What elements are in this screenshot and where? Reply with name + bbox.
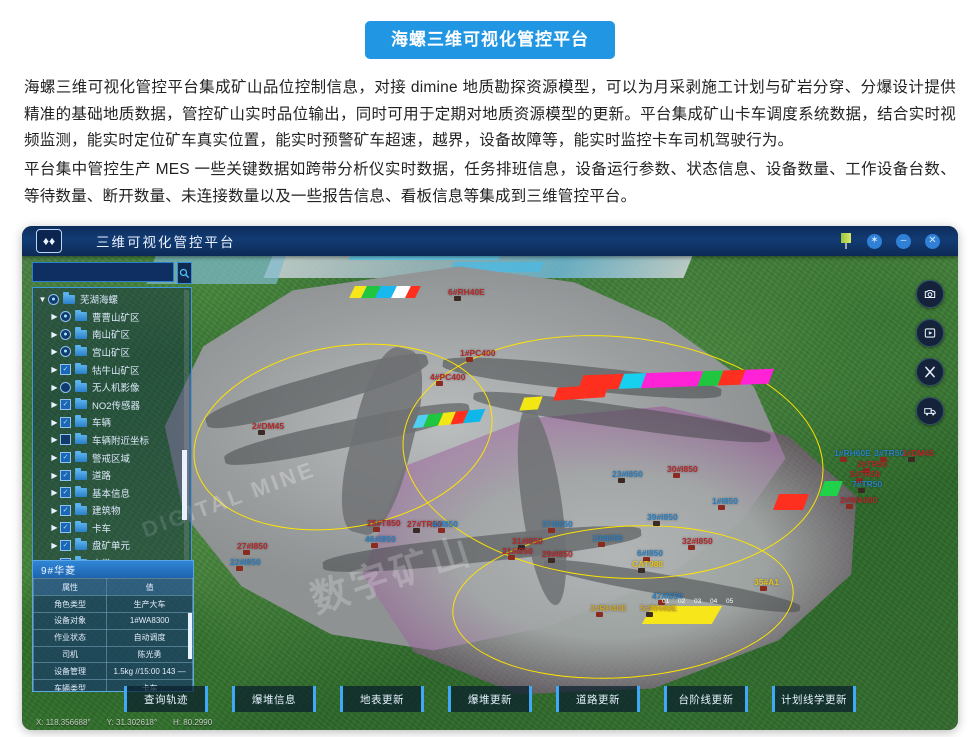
tree-node[interactable]: ▶●宫山矿区 xyxy=(35,343,185,361)
layer-checkbox[interactable]: ✓ xyxy=(60,364,71,375)
map-marker-label[interactable]: 1#I850 xyxy=(712,496,738,506)
map-vehicle-marker[interactable] xyxy=(548,558,555,563)
map-marker-label[interactable]: 46#I850 xyxy=(365,534,396,544)
tree-node-label: 宫山矿区 xyxy=(92,345,130,359)
layer-checkbox[interactable]: ✓ xyxy=(60,540,71,551)
tree-node-label: 车辆 xyxy=(92,415,111,429)
property-value: 1#WA8300 xyxy=(107,612,193,629)
close-icon[interactable]: ✕ xyxy=(925,234,940,249)
map-vehicle-marker[interactable] xyxy=(548,528,555,533)
folder-icon xyxy=(75,506,87,515)
tree-node[interactable]: ▶✓车辆 xyxy=(35,414,185,432)
layer-checkbox[interactable]: ● xyxy=(60,311,71,322)
status-item: X: 118.356688° xyxy=(36,718,91,727)
map-vehicle-marker[interactable] xyxy=(638,568,645,573)
chevron-right-icon[interactable]: ▶ xyxy=(49,453,60,462)
property-key: 角色类型 xyxy=(34,596,107,613)
folder-icon xyxy=(75,330,87,339)
chevron-right-icon[interactable]: ▶ xyxy=(49,506,60,515)
action-button-label: 计划线学更新 xyxy=(781,692,847,707)
status-item: Y: 31.302618° xyxy=(107,718,157,727)
chevron-down-icon[interactable]: ▼ xyxy=(37,295,48,304)
property-value: 1.5kg //15:00 143 — xyxy=(107,663,193,680)
tree-node[interactable]: ▶✓建筑物 xyxy=(35,502,185,520)
action-button-label: 爆堆更新 xyxy=(468,692,512,707)
map-marker-label[interactable]: 19#I850 xyxy=(592,533,623,543)
folder-icon xyxy=(75,347,87,356)
chevron-right-icon[interactable]: ▶ xyxy=(49,365,60,374)
layer-checkbox[interactable]: ✓ xyxy=(60,487,71,498)
page-title-badge: 海螺三维可视化管控平台 xyxy=(365,21,615,59)
map-marker-label[interactable]: 37#I850 xyxy=(542,519,573,529)
property-column-header: 值 xyxy=(107,579,193,596)
map-marker-label[interactable]: 27#I850 xyxy=(237,541,268,551)
truck-icon[interactable] xyxy=(916,397,944,425)
tree-node[interactable]: ▶●南山矿区 xyxy=(35,326,185,344)
bottom-action-bar: 查询轨迹爆堆信息地表更新爆堆更新道路更新台阶线更新计划线学更新 xyxy=(22,686,958,712)
tree-node[interactable]: ▶✓道路 xyxy=(35,466,185,484)
folder-icon xyxy=(75,365,87,374)
bench-tick-label: 03 xyxy=(694,598,701,605)
action-button-label: 爆堆信息 xyxy=(252,692,296,707)
layer-checkbox[interactable]: ✓ xyxy=(60,505,71,516)
layer-checkbox[interactable]: ● xyxy=(60,346,71,357)
folder-icon xyxy=(75,488,87,497)
layer-checkbox[interactable]: ✓ xyxy=(60,399,71,410)
tree-node[interactable]: ▶✓警戒区域 xyxy=(35,449,185,467)
camera-icon[interactable] xyxy=(916,280,944,308)
property-panel: 9#华菱 属性值角色类型生产大车设备对象1#WA8300作业状态自动调度司机陈光… xyxy=(32,560,194,692)
action-button-label: 道路更新 xyxy=(576,692,620,707)
layer-checkbox[interactable]: ✓ xyxy=(60,470,71,481)
tree-node[interactable]: ▶车辆附近坐标 xyxy=(35,431,185,449)
layer-checkbox[interactable]: ✓ xyxy=(60,522,71,533)
property-row: 设备对象1#WA8300 xyxy=(34,612,193,629)
property-column-header: 属性 xyxy=(34,579,107,596)
folder-icon xyxy=(75,400,87,409)
tree-node[interactable]: ▶✓基本信息 xyxy=(35,484,185,502)
property-value: 陈光勇 xyxy=(107,646,193,663)
map-vehicle-marker[interactable] xyxy=(371,543,378,548)
map-vehicle-marker[interactable] xyxy=(840,457,847,462)
tree-node-label: 建筑物 xyxy=(92,503,121,517)
map-vehicle-marker[interactable] xyxy=(688,545,695,550)
blast-pile-info-button[interactable]: 爆堆信息 xyxy=(232,686,316,712)
settings-icon[interactable]: ✶ xyxy=(867,234,882,249)
plan-line-update-button[interactable]: 计划线学更新 xyxy=(772,686,856,712)
property-row: 设备管理1.5kg //15:00 143 — xyxy=(34,663,193,680)
ore-block-row-8 xyxy=(349,286,421,298)
layer-tree[interactable]: ▼●芜湖海螺▶●曹曹山矿区▶●南山矿区▶●宫山矿区▶✓牯牛山矿区▶无人机影像▶✓… xyxy=(32,287,192,577)
map-vehicle-marker[interactable] xyxy=(436,381,443,386)
tree-node[interactable]: ▶✓牯牛山矿区 xyxy=(35,361,185,379)
tree-node-label: 曹曹山矿区 xyxy=(92,310,140,324)
tree-node-label: 牯牛山矿区 xyxy=(92,363,140,377)
map-vehicle-marker[interactable] xyxy=(258,430,265,435)
folder-icon xyxy=(75,312,87,321)
map-vehicle-marker[interactable] xyxy=(653,521,660,526)
map-marker-label[interactable]: 7#TR50 xyxy=(852,479,882,489)
tree-node-label: 盘矿单元 xyxy=(92,538,130,552)
map-vehicle-marker[interactable] xyxy=(508,555,515,560)
property-header-row: 属性值 xyxy=(34,579,193,596)
tree-node[interactable]: ▶✓NO2传感器 xyxy=(35,396,185,414)
tree-node[interactable]: ▶无人机影像 xyxy=(35,378,185,396)
tree-node[interactable]: ▼●芜湖海螺 xyxy=(35,290,185,308)
chevron-right-icon[interactable]: ▶ xyxy=(49,488,60,497)
surface-update-button[interactable]: 地表更新 xyxy=(340,686,424,712)
map-marker-label[interactable]: 6#I850 xyxy=(637,548,663,558)
chevron-right-icon[interactable]: ▶ xyxy=(49,400,60,409)
chevron-right-icon[interactable]: ▶ xyxy=(49,471,60,480)
ore-block-row-5 xyxy=(773,494,809,510)
map-tool-buttons xyxy=(916,280,944,425)
layer-checkbox[interactable]: ✓ xyxy=(60,452,71,463)
property-value: 自动调度 xyxy=(107,629,193,646)
app-logo-icon: ♦♦ xyxy=(36,229,62,253)
chevron-right-icon[interactable]: ▶ xyxy=(49,523,60,532)
map-marker-label[interactable]: 32#I850 xyxy=(682,536,713,546)
property-row: 司机陈光勇 xyxy=(34,646,193,663)
bench-line-update-button[interactable]: 台阶线更新 xyxy=(664,686,748,712)
map-vehicle-marker[interactable] xyxy=(466,357,473,362)
map-marker-label[interactable]: 3#TR50 xyxy=(874,448,904,458)
bench-tick-label: 01 xyxy=(662,598,669,605)
chevron-right-icon[interactable]: ▶ xyxy=(49,435,60,444)
map-vehicle-marker[interactable] xyxy=(454,296,461,301)
chevron-right-icon[interactable]: ▶ xyxy=(49,312,60,321)
tree-node-label: 芜湖海螺 xyxy=(80,292,118,306)
intro-paragraph-1: 海螺三维可视化管控平台集成矿山品位控制信息，对接 dimine 地质勘探资源模型… xyxy=(24,75,956,155)
map-vehicle-marker[interactable] xyxy=(646,612,653,617)
map-vehicle-marker[interactable] xyxy=(760,586,767,591)
map-vehicle-marker[interactable] xyxy=(908,457,915,462)
tree-node-label: 无人机影像 xyxy=(92,380,140,394)
bench-tick-label: 05 xyxy=(726,598,733,605)
chevron-right-icon[interactable]: ▶ xyxy=(49,383,60,392)
property-key: 设备管理 xyxy=(34,663,107,680)
tree-scrollbar-track[interactable] xyxy=(184,290,189,574)
map-marker-label[interactable]: 1#DM45 xyxy=(902,448,934,458)
map-vehicle-marker[interactable] xyxy=(373,527,380,532)
window-controls: ✶ – ✕ xyxy=(839,233,940,249)
folder-icon xyxy=(75,541,87,550)
status-bar: X: 118.356688°Y: 31.302618°H: 80.2990 xyxy=(22,714,958,730)
pin-icon[interactable] xyxy=(839,233,853,249)
map-marker-label[interactable]: 31#I850 xyxy=(512,536,543,546)
application-window: 数字矿山 DIGITAL MINE 6#RH40E1#PC4004#PC4002… xyxy=(22,226,958,730)
tree-node[interactable]: ▶✓盘矿单元 xyxy=(35,537,185,555)
layer-checkbox[interactable]: ● xyxy=(48,294,59,305)
action-button-label: 地表更新 xyxy=(360,692,404,707)
folder-icon xyxy=(75,523,87,532)
status-item: H: 80.2990 xyxy=(173,718,212,727)
tools-icon[interactable] xyxy=(916,358,944,386)
map-marker-label[interactable]: 22#I850 xyxy=(230,557,261,567)
chevron-right-icon[interactable]: ▶ xyxy=(49,541,60,550)
property-key: 作业状态 xyxy=(34,629,107,646)
minimize-icon[interactable]: – xyxy=(896,234,911,249)
search-input[interactable] xyxy=(32,262,174,282)
tree-node-label: 基本信息 xyxy=(92,486,130,500)
chevron-right-icon[interactable]: ▶ xyxy=(49,347,60,356)
map-marker-label[interactable]: 29#I850 xyxy=(542,549,573,559)
tree-node[interactable]: ▶✓卡车 xyxy=(35,519,185,537)
layer-checkbox[interactable] xyxy=(60,382,71,393)
property-key: 司机 xyxy=(34,646,107,663)
map-marker-label[interactable]: 4#I850 xyxy=(432,519,458,529)
map-vehicle-marker[interactable] xyxy=(596,612,603,617)
intro-section: 海螺三维可视化管控平台 海螺三维可视化管控平台集成矿山品位控制信息，对接 dim… xyxy=(0,0,980,210)
property-scrollbar-thumb[interactable] xyxy=(188,613,192,659)
search-icon[interactable] xyxy=(177,262,192,284)
search-row xyxy=(32,262,192,284)
chevron-right-icon[interactable]: ▶ xyxy=(49,330,60,339)
chevron-right-icon[interactable]: ▶ xyxy=(49,418,60,427)
action-button-label: 台阶线更新 xyxy=(679,692,734,707)
layer-checkbox[interactable]: ✓ xyxy=(60,417,71,428)
layer-tree-panel: ▼●芜湖海螺▶●曹曹山矿区▶●南山矿区▶●宫山矿区▶✓牯牛山矿区▶无人机影像▶✓… xyxy=(32,262,192,577)
property-row: 作业状态自动调度 xyxy=(34,629,193,646)
tree-scrollbar-thumb[interactable] xyxy=(182,450,187,520)
bench-tick-label: 04 xyxy=(710,598,717,605)
map-marker-label[interactable]: 39#I850 xyxy=(647,512,678,522)
map-marker-label[interactable]: 5#TR50 xyxy=(850,469,880,479)
intro-paragraph-2: 平台集中管控生产 MES 一些关键数据如跨带分析仪实时数据，任务排班信息，设备运… xyxy=(24,157,956,210)
tree-node-label: 道路 xyxy=(92,468,111,482)
map-vehicle-marker[interactable] xyxy=(243,550,250,555)
folder-icon xyxy=(63,295,75,304)
folder-icon xyxy=(75,383,87,392)
property-value: 生产大车 xyxy=(107,596,193,613)
bench-tick-label: 02 xyxy=(678,598,685,605)
map-marker-label[interactable]: 2#TR50 xyxy=(857,459,887,469)
layer-checkbox[interactable] xyxy=(60,434,71,445)
tree-node-label: NO2传感器 xyxy=(92,398,140,412)
property-panel-title: 9#华菱 xyxy=(33,561,193,578)
map-vehicle-marker[interactable] xyxy=(858,488,865,493)
title-badge-wrapper: 海螺三维可视化管控平台 xyxy=(24,0,956,59)
map-vehicle-marker[interactable] xyxy=(846,504,853,509)
tree-node-label: 南山矿区 xyxy=(92,327,130,341)
road-update-button[interactable]: 道路更新 xyxy=(556,686,640,712)
folder-icon xyxy=(75,418,87,427)
query-track-button[interactable]: 查询轨迹 xyxy=(124,686,208,712)
map-marker-label[interactable]: 30#I850 xyxy=(667,464,698,474)
map-marker-label[interactable]: 2#DM45 xyxy=(252,421,284,431)
tree-node[interactable]: ▶●曹曹山矿区 xyxy=(35,308,185,326)
map-vehicle-marker[interactable] xyxy=(438,528,445,533)
property-row: 角色类型生产大车 xyxy=(34,596,193,613)
map-vehicle-marker[interactable] xyxy=(673,473,680,478)
video-play-icon[interactable] xyxy=(916,319,944,347)
map-vehicle-marker[interactable] xyxy=(413,528,420,533)
folder-icon xyxy=(75,435,87,444)
map-vehicle-marker[interactable] xyxy=(718,505,725,510)
property-key: 设备对象 xyxy=(34,612,107,629)
folder-icon xyxy=(75,471,87,480)
window-title: 三维可视化管控平台 xyxy=(96,231,236,251)
blast-pile-update-button[interactable]: 爆堆更新 xyxy=(448,686,532,712)
tree-node-label: 卡车 xyxy=(92,521,111,535)
layer-checkbox[interactable]: ● xyxy=(60,329,71,340)
map-vehicle-marker[interactable] xyxy=(598,542,605,547)
property-table: 属性值角色类型生产大车设备对象1#WA8300作业状态自动调度司机陈光勇设备管理… xyxy=(33,578,193,692)
map-vehicle-marker[interactable] xyxy=(618,478,625,483)
tree-node-label: 车辆附近坐标 xyxy=(92,433,149,447)
map-vehicle-marker[interactable] xyxy=(236,566,243,571)
layer-tree-list: ▼●芜湖海螺▶●曹曹山矿区▶●南山矿区▶●宫山矿区▶✓牯牛山矿区▶无人机影像▶✓… xyxy=(35,290,185,574)
folder-icon xyxy=(75,453,87,462)
action-button-label: 查询轨迹 xyxy=(144,692,188,707)
tree-node-label: 警戒区域 xyxy=(92,451,130,465)
map-marker-label[interactable]: CAT988 xyxy=(632,559,663,569)
map-marker-label[interactable]: 21#I850 xyxy=(502,546,533,556)
window-titlebar: ♦♦ 三维可视化管控平台 ✶ – ✕ xyxy=(22,226,958,256)
map-marker-label[interactable]: 23#I850 xyxy=(612,469,643,479)
